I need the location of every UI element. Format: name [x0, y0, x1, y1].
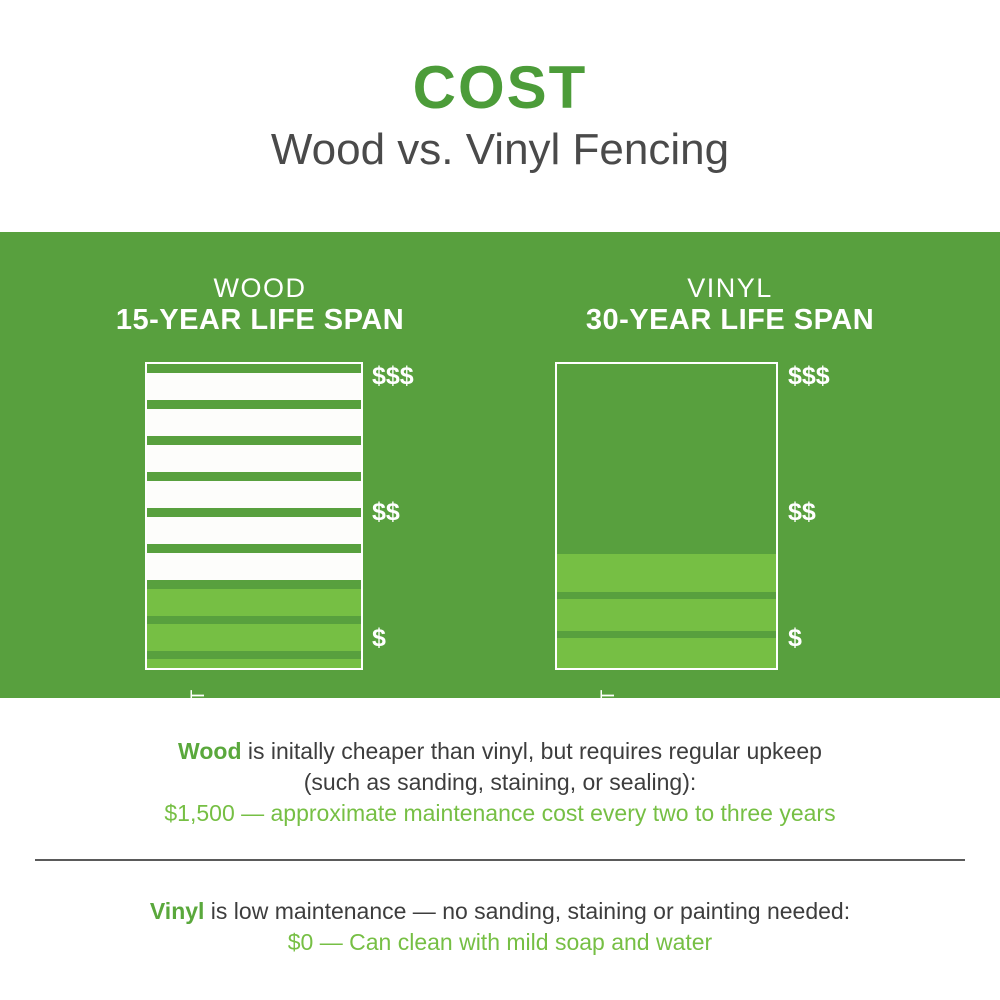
cost-band: [147, 517, 361, 544]
cost-band: [147, 553, 361, 580]
note-wood-money: $1,500 — approximate maintenance cost ev…: [0, 798, 1000, 829]
chart-wood-tick-high: $$$: [372, 364, 414, 389]
chart-wood-tick-mid: $$: [372, 500, 400, 525]
cost-band: [147, 373, 361, 400]
cost-band: [147, 589, 361, 616]
cost-band: [557, 554, 776, 592]
chart-vinyl: VINYL 30-YEAR LIFE SPAN TOTAL COST $$$ $…: [530, 232, 930, 698]
chart-wood-heading: WOOD 15-YEAR LIFE SPAN: [60, 274, 460, 337]
chart-vinyl-heading: VINYL 30-YEAR LIFE SPAN: [530, 274, 930, 337]
infographic-canvas: COST Wood vs. Vinyl Fencing WOOD 15-YEAR…: [0, 0, 1000, 1000]
cost-band: [147, 445, 361, 472]
page-subtitle: Wood vs. Vinyl Fencing: [0, 128, 1000, 172]
chart-wood-lifespan: 15-YEAR LIFE SPAN: [60, 304, 460, 337]
footnotes: Wood is initally cheaper than vinyl, but…: [0, 698, 1000, 1000]
note-vinyl-money: $0 — Can clean with mild soap and water: [0, 927, 1000, 958]
cost-band: [147, 659, 361, 670]
chart-vinyl-plot: [555, 362, 778, 670]
chart-vinyl-tick-high: $$$: [788, 364, 830, 389]
header: COST Wood vs. Vinyl Fencing: [0, 0, 1000, 232]
cost-band: [147, 624, 361, 651]
note-wood-line1: is initally cheaper than vinyl, but requ…: [242, 738, 822, 764]
chart-wood-material: WOOD: [60, 274, 460, 304]
note-wood: Wood is initally cheaper than vinyl, but…: [0, 736, 1000, 829]
chart-wood: WOOD 15-YEAR LIFE SPAN TOTAL COST $$$ $$…: [60, 232, 460, 698]
cost-band: [557, 599, 776, 631]
note-wood-lead: Wood: [178, 738, 241, 764]
chart-panel: WOOD 15-YEAR LIFE SPAN TOTAL COST $$$ $$…: [0, 232, 1000, 698]
chart-wood-plot: [145, 362, 363, 670]
section-divider: [35, 859, 965, 861]
cost-band: [147, 409, 361, 436]
note-vinyl-line1: is low maintenance — no sanding, stainin…: [204, 898, 850, 924]
chart-vinyl-material: VINYL: [530, 274, 930, 304]
chart-vinyl-tick-low: $: [788, 626, 802, 651]
page-title: COST: [0, 58, 1000, 118]
chart-vinyl-tick-mid: $$: [788, 500, 816, 525]
note-vinyl: Vinyl is low maintenance — no sanding, s…: [0, 896, 1000, 958]
note-wood-line2: (such as sanding, staining, or sealing):: [304, 769, 697, 795]
note-vinyl-lead: Vinyl: [150, 898, 205, 924]
chart-wood-tick-low: $: [372, 626, 386, 651]
cost-band: [557, 638, 776, 670]
cost-band: [147, 481, 361, 508]
chart-vinyl-lifespan: 30-YEAR LIFE SPAN: [530, 304, 930, 337]
